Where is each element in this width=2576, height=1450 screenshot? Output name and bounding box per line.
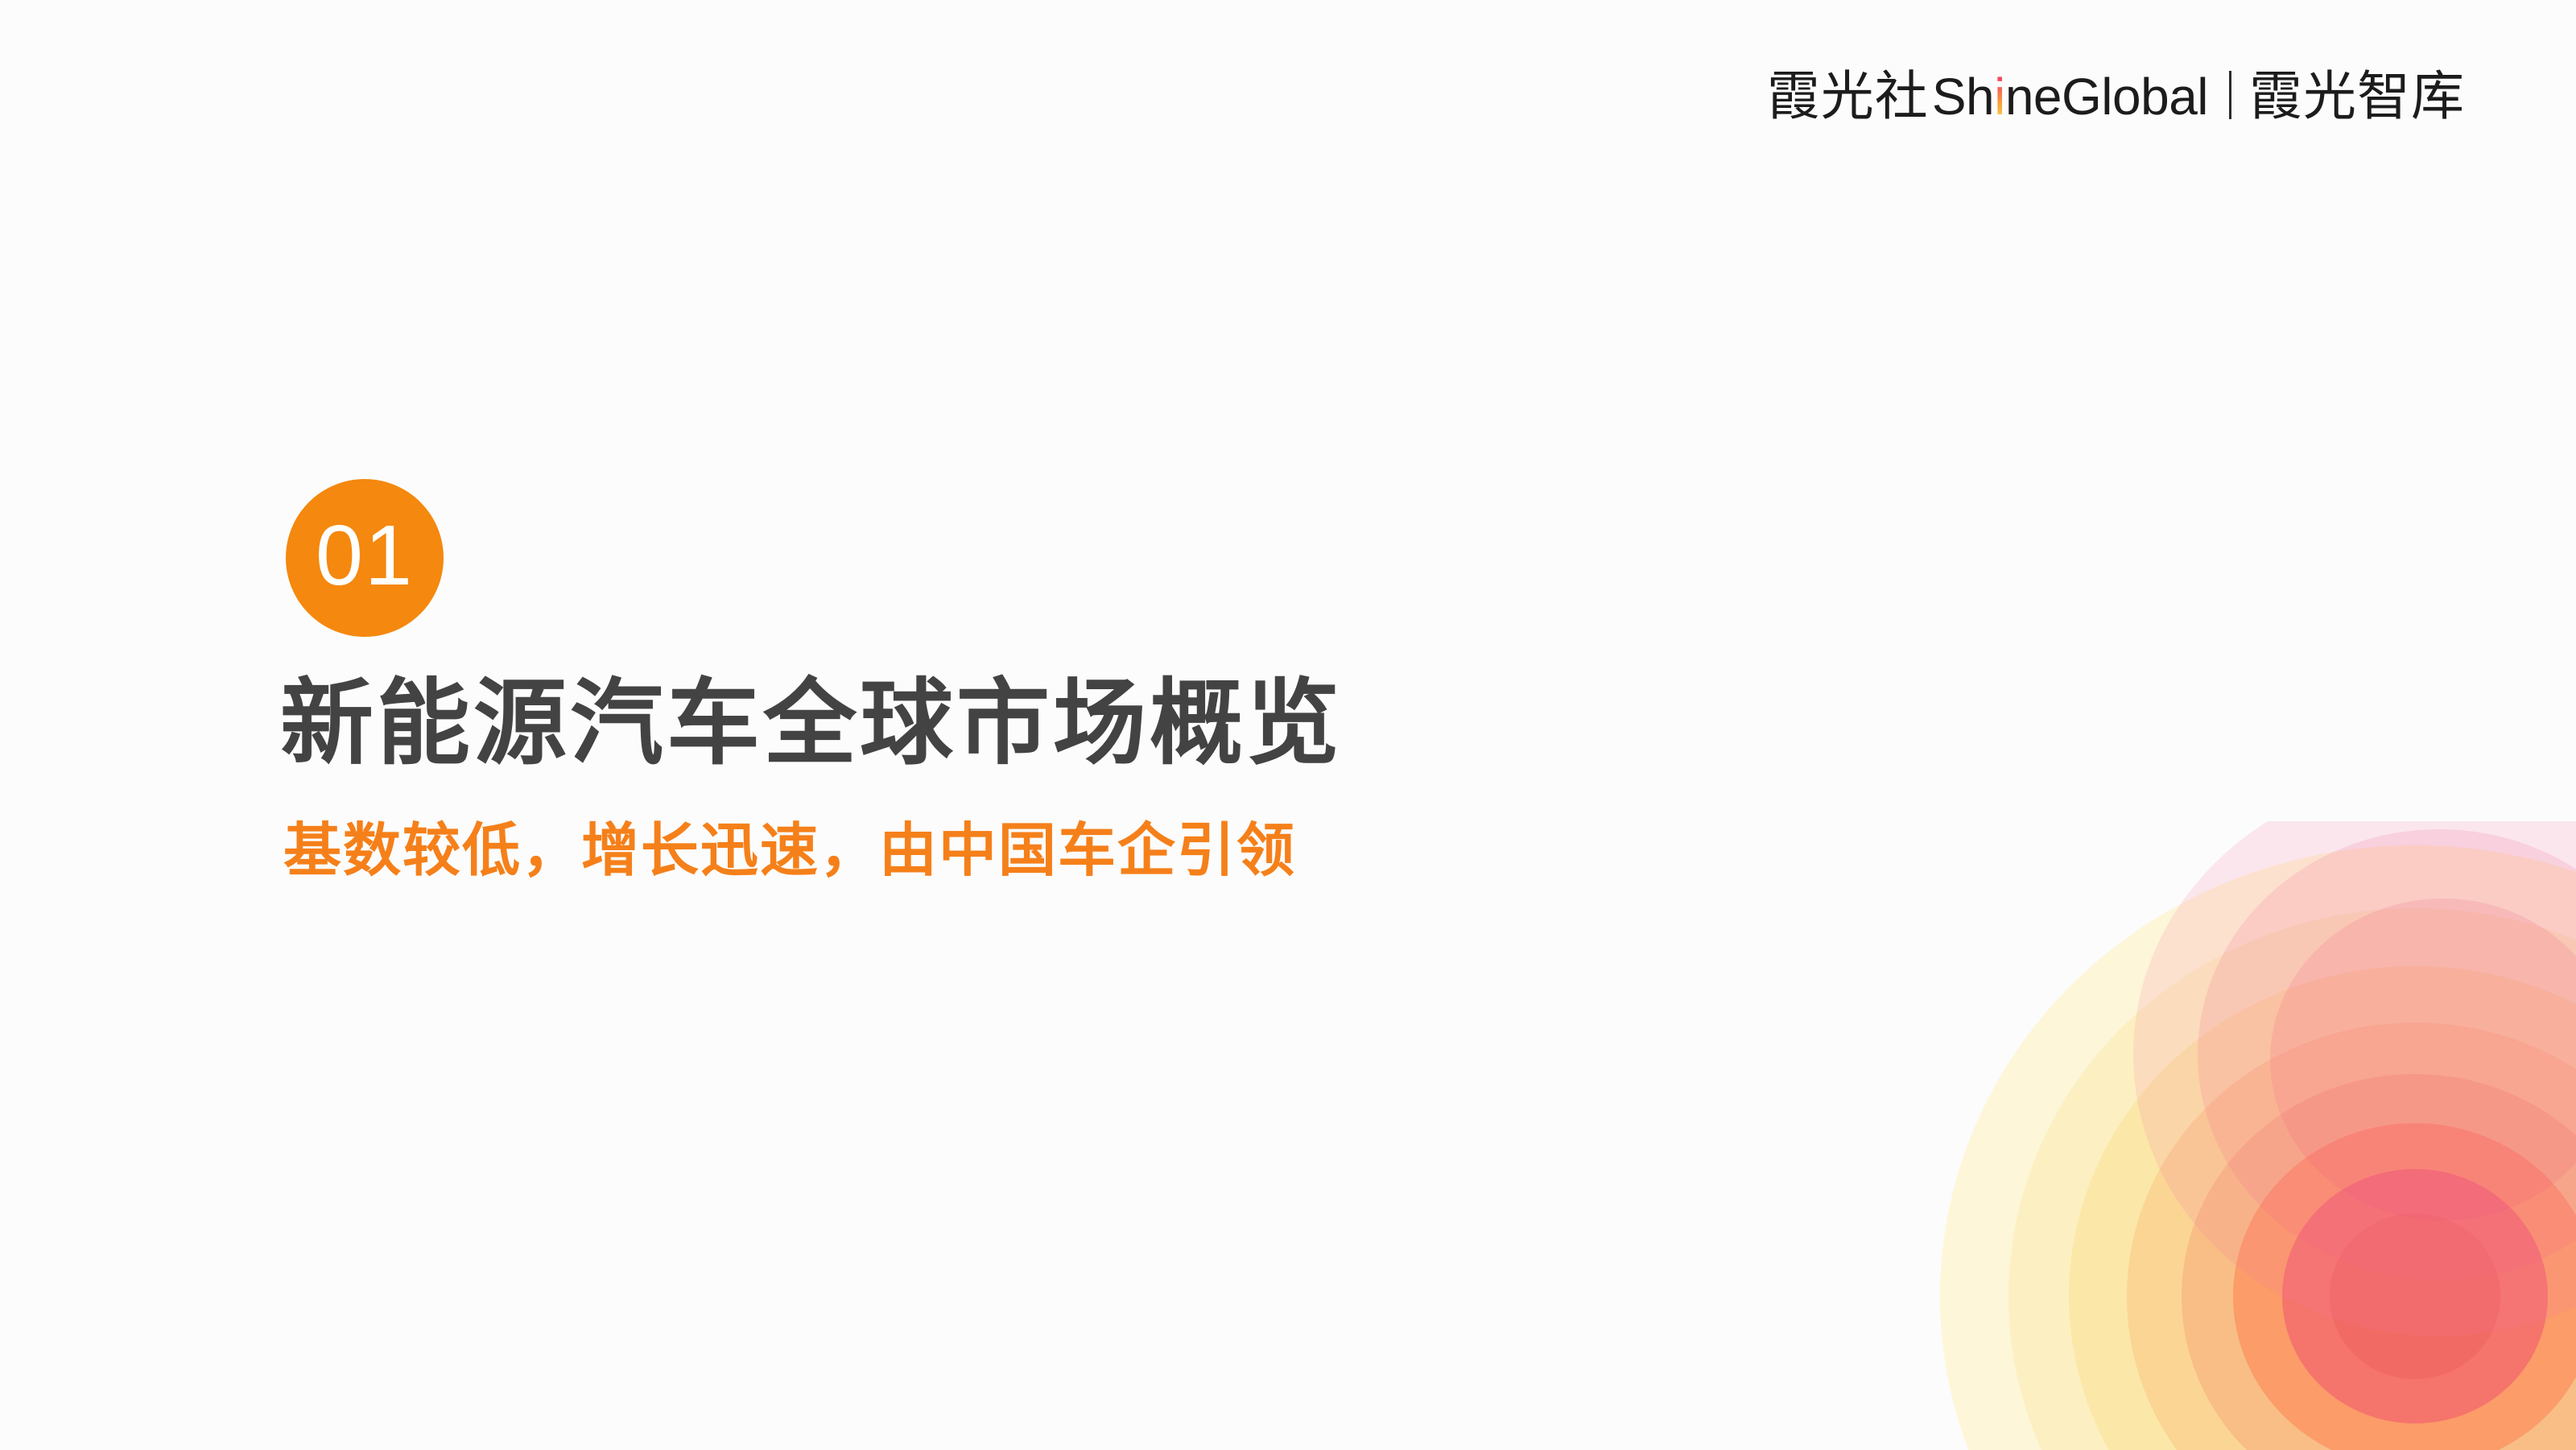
section-number-badge: 01 xyxy=(286,479,444,637)
decoration-pink-overlay-2 xyxy=(2198,829,2576,1280)
brand-english-suffix: neGlobal xyxy=(2005,68,2208,126)
brand-name-chinese: 霞光社 xyxy=(1767,69,1929,122)
brand-name-english: ShineGlobal xyxy=(1932,71,2208,122)
brand-accent-letter: i xyxy=(1994,68,2005,126)
slide-root: 霞光社 ShineGlobal 霞光智库 01 新能源汽车全球市场概览 基数较低… xyxy=(0,0,2576,1450)
decoration-ring-8 xyxy=(2330,1213,2500,1379)
decoration-ring-7 xyxy=(2282,1169,2548,1423)
page-title: 新能源汽车全球市场概览 xyxy=(280,668,1343,779)
decoration-ring-1 xyxy=(1940,845,2576,1450)
brand-subname-chinese: 霞光智库 xyxy=(2249,69,2465,122)
decoration-ring-3 xyxy=(2069,966,2576,1450)
decoration-ring-2 xyxy=(2008,908,2576,1450)
brand-lockup: 霞光社 ShineGlobal 霞光智库 xyxy=(1767,66,2465,122)
decoration-ring-5 xyxy=(2182,1074,2576,1450)
brand-english-prefix: Sh xyxy=(1932,68,1994,126)
decoration-pink-overlay-1 xyxy=(2133,821,2576,1336)
section-number-label: 01 xyxy=(316,513,414,598)
decoration-pink-overlay-3 xyxy=(2270,899,2576,1221)
brand-divider xyxy=(2229,71,2231,119)
page-subtitle: 基数较低，增长迅速，由中国车企引领 xyxy=(283,815,1296,887)
decoration-ring-6 xyxy=(2233,1123,2576,1450)
decoration-ring-4 xyxy=(2127,1022,2576,1450)
concentric-rings-decoration xyxy=(1715,821,2576,1450)
